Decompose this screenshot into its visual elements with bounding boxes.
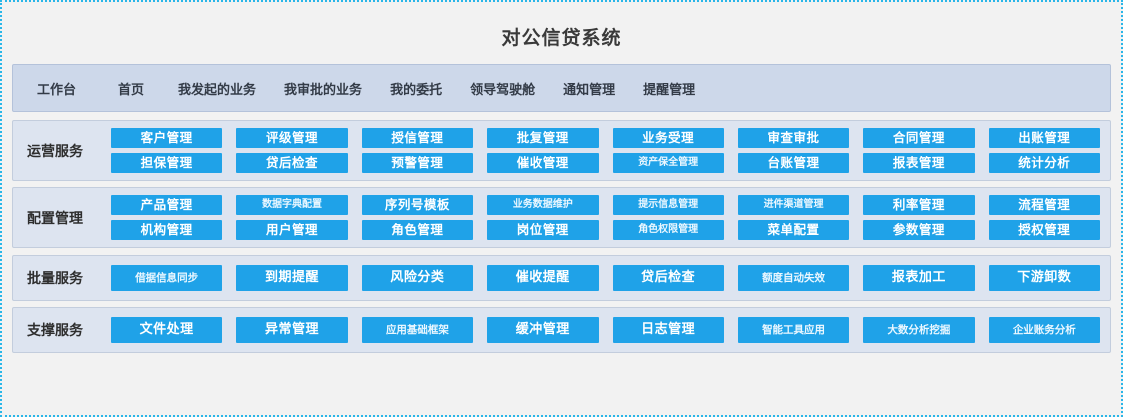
sections-container: 运营服务客户管理评级管理授信管理批复管理业务受理审查审批合同管理出账管理担保管理… [12,120,1111,353]
menu-tile[interactable]: 统计分析 [989,153,1100,173]
nav-item-7[interactable]: 提醒管理 [643,79,695,98]
menu-tile[interactable]: 出账管理 [989,128,1100,148]
menu-tile[interactable]: 智能工具应用 [738,317,849,343]
title-bar: 对公信贷系统 [12,8,1111,64]
menu-tile[interactable]: 企业账务分析 [989,317,1100,343]
menu-tile[interactable]: 进件渠道管理 [738,195,849,215]
menu-tile[interactable]: 提示信息管理 [613,195,724,215]
menu-tile[interactable]: 角色管理 [362,220,473,240]
menu-tile[interactable]: 审查审批 [738,128,849,148]
menu-tile[interactable]: 岗位管理 [487,220,598,240]
section-batch: 批量服务借据信息同步到期提醒风险分类催收提醒贷后检查额度自动失效报表加工下游卸数 [12,255,1111,301]
section-grid-batch: 借据信息同步到期提醒风险分类催收提醒贷后检查额度自动失效报表加工下游卸数 [111,265,1100,291]
section-label-batch: 批量服务 [27,268,111,288]
menu-tile[interactable]: 客户管理 [111,128,222,148]
menu-tile[interactable]: 预警管理 [362,153,473,173]
section-support: 支撑服务文件处理异常管理应用基础框架缓冲管理日志管理智能工具应用大数分析挖掘企业… [12,307,1111,353]
menu-tile[interactable]: 批复管理 [487,128,598,148]
menu-tile[interactable]: 业务数据维护 [487,195,598,215]
menu-tile[interactable]: 报表加工 [863,265,974,291]
menu-tile[interactable]: 数据字典配置 [236,195,347,215]
application-frame: 对公信贷系统 工作台首页我发起的业务我审批的业务我的委托领导驾驶舱通知管理提醒管… [0,0,1123,417]
menu-tile[interactable]: 贷后检查 [613,265,724,291]
menu-tile[interactable]: 台账管理 [738,153,849,173]
section-operations: 运营服务客户管理评级管理授信管理批复管理业务受理审查审批合同管理出账管理担保管理… [12,120,1111,181]
menu-tile[interactable]: 额度自动失效 [738,265,849,291]
menu-tile[interactable]: 流程管理 [989,195,1100,215]
menu-tile[interactable]: 利率管理 [863,195,974,215]
menu-tile[interactable]: 贷后检查 [236,153,347,173]
menu-tile[interactable]: 报表管理 [863,153,974,173]
main-navigation-bar: 工作台首页我发起的业务我审批的业务我的委托领导驾驶舱通知管理提醒管理 [12,64,1111,112]
menu-tile[interactable]: 授信管理 [362,128,473,148]
menu-tile[interactable]: 机构管理 [111,220,222,240]
menu-tile[interactable]: 应用基础框架 [362,317,473,343]
menu-tile[interactable]: 到期提醒 [236,265,347,291]
menu-tile[interactable]: 风险分类 [362,265,473,291]
nav-item-2[interactable]: 我发起的业务 [178,79,256,98]
section-grid-config: 产品管理数据字典配置序列号模板业务数据维护提示信息管理进件渠道管理利率管理流程管… [111,195,1100,240]
section-grid-operations: 客户管理评级管理授信管理批复管理业务受理审查审批合同管理出账管理担保管理贷后检查… [111,128,1100,173]
nav-item-4[interactable]: 我的委托 [390,79,442,98]
menu-tile[interactable]: 借据信息同步 [111,265,222,291]
nav-item-0[interactable]: 工作台 [37,79,76,98]
menu-tile[interactable]: 日志管理 [613,317,724,343]
section-label-operations: 运营服务 [27,141,111,161]
menu-tile[interactable]: 资产保全管理 [613,153,724,173]
section-label-support: 支撑服务 [27,320,111,340]
nav-item-5[interactable]: 领导驾驶舱 [470,79,535,98]
nav-item-3[interactable]: 我审批的业务 [284,79,362,98]
menu-tile[interactable]: 用户管理 [236,220,347,240]
menu-tile[interactable]: 评级管理 [236,128,347,148]
nav-item-6[interactable]: 通知管理 [563,79,615,98]
menu-tile[interactable]: 业务受理 [613,128,724,148]
menu-tile[interactable]: 参数管理 [863,220,974,240]
menu-tile[interactable]: 催收管理 [487,153,598,173]
menu-tile[interactable]: 缓冲管理 [487,317,598,343]
nav-item-1[interactable]: 首页 [118,79,144,98]
menu-tile[interactable]: 菜单配置 [738,220,849,240]
menu-tile[interactable]: 序列号模板 [362,195,473,215]
menu-tile[interactable]: 产品管理 [111,195,222,215]
section-config: 配置管理产品管理数据字典配置序列号模板业务数据维护提示信息管理进件渠道管理利率管… [12,187,1111,248]
menu-tile[interactable]: 文件处理 [111,317,222,343]
menu-tile[interactable]: 催收提醒 [487,265,598,291]
menu-tile[interactable]: 角色权限管理 [613,220,724,240]
menu-tile[interactable]: 担保管理 [111,153,222,173]
section-label-config: 配置管理 [27,208,111,228]
menu-tile[interactable]: 授权管理 [989,220,1100,240]
section-grid-support: 文件处理异常管理应用基础框架缓冲管理日志管理智能工具应用大数分析挖掘企业账务分析 [111,317,1100,343]
menu-tile[interactable]: 下游卸数 [989,265,1100,291]
menu-tile[interactable]: 异常管理 [236,317,347,343]
menu-tile[interactable]: 合同管理 [863,128,974,148]
menu-tile[interactable]: 大数分析挖掘 [863,317,974,343]
page-title: 对公信贷系统 [501,23,621,50]
